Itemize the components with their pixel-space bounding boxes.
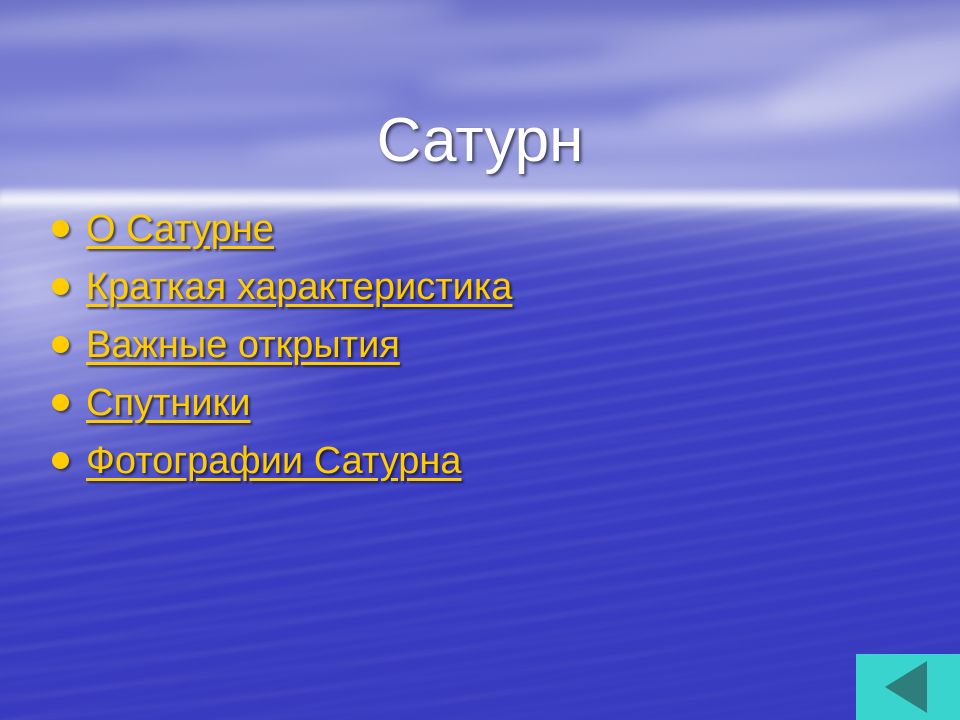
- presentation-slide: Сатурн О Сатурне Краткая характеристика …: [0, 0, 960, 720]
- hyperlink-sputniki[interactable]: Спутники: [86, 380, 251, 426]
- hyperlink-list: О Сатурне Краткая характеристика Важные …: [52, 206, 912, 496]
- bullet-dot-icon: [52, 452, 69, 469]
- list-item[interactable]: О Сатурне: [52, 206, 912, 264]
- hyperlink-vazhnye-otkrytiya[interactable]: Важные открытия: [86, 322, 400, 368]
- bullet-dot-icon: [52, 336, 69, 353]
- bullet-dot-icon: [52, 278, 69, 295]
- triangle-left-icon: [885, 661, 927, 713]
- bullet-dot-icon: [52, 220, 69, 237]
- slide-title: Сатурн: [60, 108, 900, 173]
- list-item[interactable]: Важные открытия: [52, 322, 912, 380]
- list-item[interactable]: Спутники: [52, 380, 912, 438]
- back-navigation-button[interactable]: [856, 654, 960, 720]
- bullet-dot-icon: [52, 394, 69, 411]
- hyperlink-fotografii-saturna[interactable]: Фотографии Сатурна: [86, 438, 462, 484]
- list-item[interactable]: Краткая характеристика: [52, 264, 912, 322]
- hyperlink-kratkaya-harakteristika[interactable]: Краткая характеристика: [86, 264, 512, 310]
- list-item[interactable]: Фотографии Сатурна: [52, 438, 912, 496]
- hyperlink-o-saturne[interactable]: О Сатурне: [86, 206, 274, 252]
